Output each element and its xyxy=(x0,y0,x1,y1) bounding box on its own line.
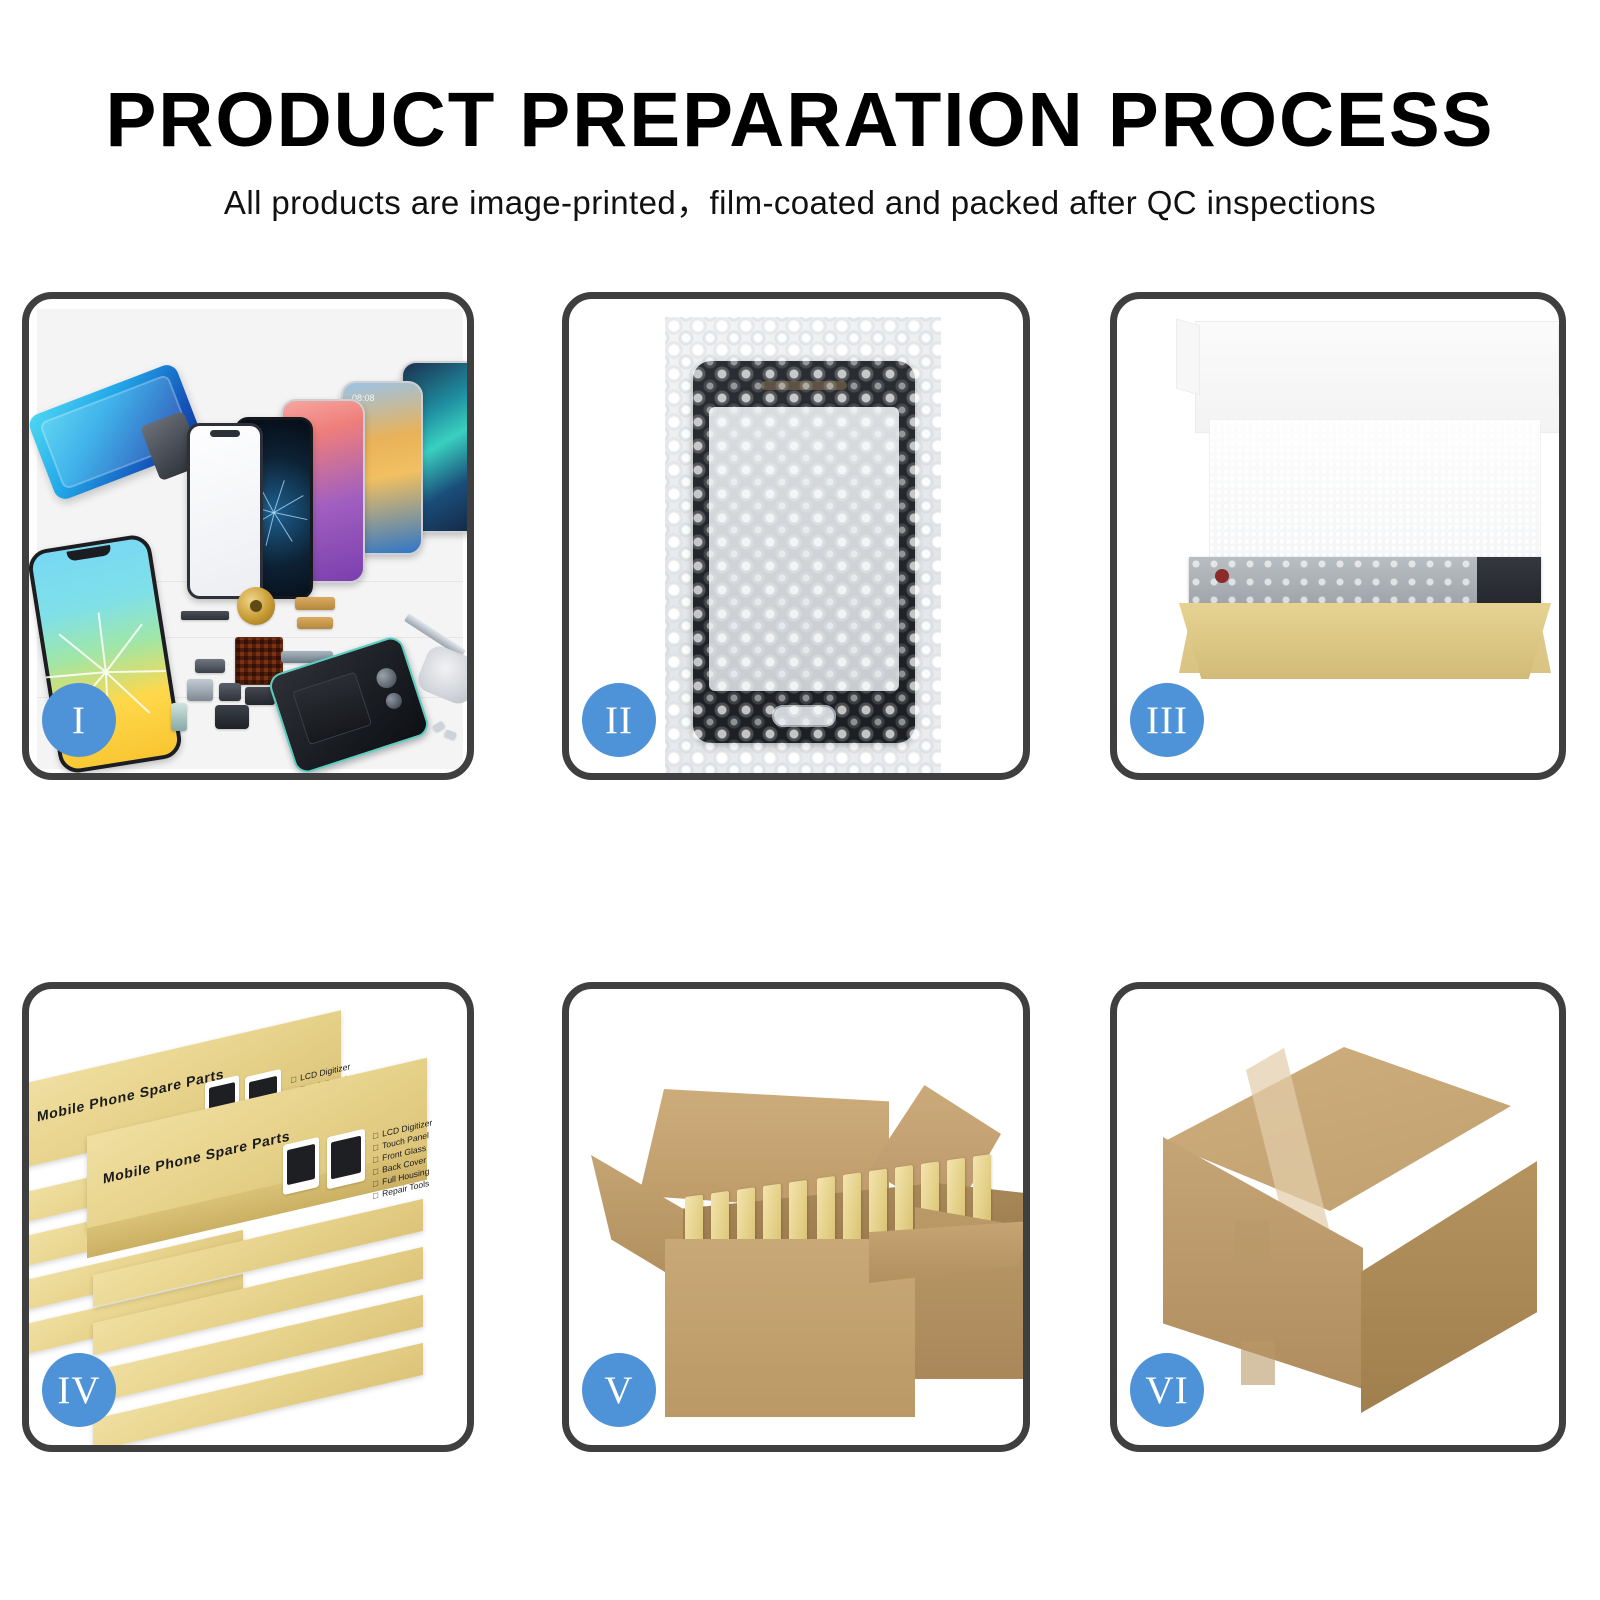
carton-seam xyxy=(1241,1341,1275,1385)
red-label-dot xyxy=(1215,569,1229,583)
screen-dark-end xyxy=(1477,557,1541,611)
camera-lens-icon xyxy=(384,691,404,711)
step-card-2: II xyxy=(562,292,1030,780)
step-badge-2: II xyxy=(582,683,656,757)
box-lid-open xyxy=(1195,321,1559,433)
step-badge-4: IV xyxy=(42,1353,116,1427)
tempered-glass-protector xyxy=(187,423,263,599)
earpiece-slot xyxy=(761,381,847,390)
step-card-1: 08:08 xyxy=(22,292,474,780)
box-product-photo xyxy=(283,1137,319,1195)
step-card-3: III xyxy=(1110,292,1566,780)
carton-seam xyxy=(1235,1221,1269,1263)
battery xyxy=(292,672,372,746)
box-product-photo xyxy=(327,1129,365,1190)
part-speaker-module xyxy=(215,705,249,729)
white-foam-insert xyxy=(1209,419,1541,569)
notch-icon xyxy=(210,430,240,437)
kraft-box-front-wall xyxy=(1179,603,1551,679)
box-checklist: LCD Digitizer Touch Panel Front Glass Ba… xyxy=(373,1116,432,1202)
part-flex-cable xyxy=(295,597,335,610)
process-step-grid: 08:08 xyxy=(0,0,1600,1600)
step-card-6: VI xyxy=(1110,982,1566,1452)
part-antenna-bar xyxy=(181,611,229,620)
step-badge-3: III xyxy=(1130,683,1204,757)
product-preparation-infographic: PRODUCT PREPARATION PROCESS All products… xyxy=(0,0,1600,1600)
part-flex-cable xyxy=(297,617,333,629)
step-badge-5: V xyxy=(582,1353,656,1427)
retail-box-edge xyxy=(93,1381,423,1413)
notch-icon xyxy=(67,545,112,562)
wrapped-phone-screen xyxy=(693,361,915,743)
step-card-4: Mobile Phone Spare Parts LCD Digitizer T… xyxy=(22,982,474,1452)
screen-glass xyxy=(709,407,899,691)
retail-box-printed: Mobile Phone Spare Parts LCD Digitizer T… xyxy=(87,1097,427,1193)
carton-side-face xyxy=(1361,1161,1537,1413)
part-sim-tray xyxy=(171,703,187,731)
home-button-icon xyxy=(772,705,836,727)
crack-lines xyxy=(105,671,106,672)
camera-lens-icon xyxy=(374,665,399,690)
step-card-5: V xyxy=(562,982,1030,1452)
step-badge-6: VI xyxy=(1130,1353,1204,1427)
crack-lines xyxy=(274,512,275,513)
part-small-component xyxy=(187,679,213,701)
wrapped-screen-in-box xyxy=(1189,557,1541,611)
part-small-component xyxy=(219,683,241,701)
part-camera-module xyxy=(195,659,225,673)
step-badge-1: I xyxy=(42,683,116,757)
part-wireless-charging-coil xyxy=(237,587,275,625)
